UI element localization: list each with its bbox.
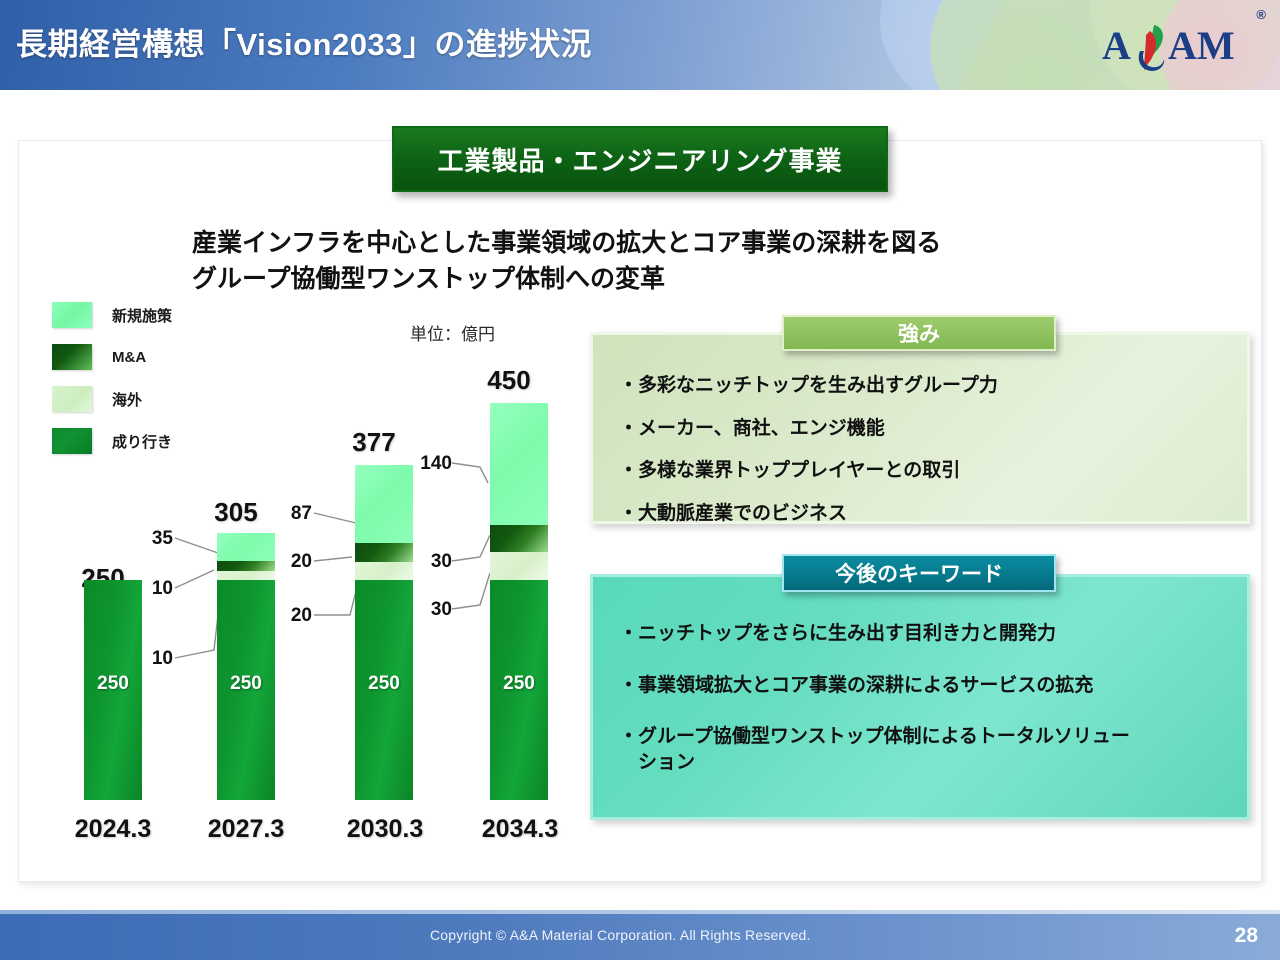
keywords-panel: ・ニッチトップをさらに生み出す目利き力と開発力 ・事業領域拡大とコア事業の深耕に…	[590, 574, 1250, 820]
strengths-list: ・多彩なニッチトップを生み出すグループ力 ・メーカー、商社、エンジ機能 ・多様な…	[593, 335, 1247, 562]
slide-header: 長期経営構想「Vision2033」の進捗状況 A AM ®	[0, 0, 1280, 90]
bar-callout-new-measures-2030: 87	[270, 503, 312, 525]
subtitle-line-1: 産業インフラを中心とした事業領域の拡大とコア事業の深耕を図る	[192, 226, 1092, 262]
list-item: ・事業領域拡大とコア事業の深耕によるサービスの拡充	[619, 673, 1221, 699]
bar-callout-new-measures-2034: 140	[402, 453, 452, 475]
list-item: ・大動脈産業でのビジネス	[619, 501, 1221, 527]
bar-callout-overseas-2027: 10	[131, 648, 173, 670]
bar-segment-new-measures-2034	[490, 403, 548, 525]
section-banner-label: 工業製品・エンジニアリング事業	[437, 141, 842, 178]
list-item: ・多様な業界トッププレイヤーとの取引	[619, 458, 1221, 484]
copyright-text: Copyright © A&A Material Corporation. Al…	[430, 927, 811, 943]
list-item: ・グループ協働型ワンストップ体制によるトータルソリュー	[619, 724, 1221, 750]
x-axis-label-2030: 2030.3	[320, 815, 450, 844]
bar-total-2034: 450	[449, 365, 569, 396]
bar-segment-overseas-2034	[490, 552, 548, 580]
logo-mark: A AM	[1100, 17, 1250, 75]
bar-value-organic-2034: 250	[490, 673, 548, 695]
bar-callout-ma-2034: 30	[402, 551, 452, 573]
section-banner: 工業製品・エンジニアリング事業	[392, 126, 888, 192]
company-logo: A AM ®	[1100, 17, 1250, 75]
page-number: 28	[1235, 924, 1258, 948]
bar-callout-new-measures-2027: 35	[131, 528, 173, 550]
stacked-bar-chart: 新規施策 M&A 海外 成り行き 250 250 2024.3 305	[18, 285, 598, 865]
bar-2034	[490, 403, 548, 800]
strengths-panel-tab: 強み	[782, 315, 1056, 351]
strengths-tab-label: 強み	[898, 318, 940, 348]
slide-footer: Copyright © A&A Material Corporation. Al…	[0, 914, 1280, 960]
list-item: ・ニッチトップをさらに生み出す目利き力と開発力	[619, 621, 1221, 647]
svg-text:A: A	[1102, 23, 1131, 68]
svg-text:AM: AM	[1168, 23, 1235, 68]
bar-segment-new-measures-2027	[217, 533, 275, 561]
x-axis-label-2024: 2024.3	[48, 815, 178, 844]
bar-segment-new-measures-2030	[355, 465, 413, 543]
bar-value-organic-2027: 250	[217, 673, 275, 695]
list-item: ・メーカー、商社、エンジ機能	[619, 416, 1221, 442]
x-axis-label-2027: 2027.3	[181, 815, 311, 844]
chart-unit-label: 単位：億円	[410, 320, 495, 345]
bar-callout-overseas-2034: 30	[402, 599, 452, 621]
bar-segment-ma-2027	[217, 561, 275, 571]
page-title: 長期経営構想「Vision2033」の進捗状況	[16, 19, 592, 64]
bar-2027	[217, 533, 275, 800]
bar-value-organic-2024: 250	[84, 673, 142, 695]
bar-2030	[355, 465, 413, 800]
keywords-list: ・ニッチトップをさらに生み出す目利き力と開発力 ・事業領域拡大とコア事業の深耕に…	[593, 577, 1247, 811]
bar-segment-ma-2034	[490, 525, 548, 552]
list-item: ション	[619, 750, 1221, 776]
bar-segment-overseas-2027	[217, 571, 275, 580]
bar-callout-ma-2030: 20	[270, 551, 312, 573]
bar-callout-overseas-2030: 20	[270, 605, 312, 627]
x-axis-label-2034: 2034.3	[455, 815, 585, 844]
keywords-panel-tab: 今後のキーワード	[782, 554, 1056, 592]
keywords-tab-label: 今後のキーワード	[835, 558, 1003, 588]
strengths-panel: ・多彩なニッチトップを生み出すグループ力 ・メーカー、商社、エンジ機能 ・多様な…	[590, 332, 1250, 524]
bar-value-organic-2030: 250	[355, 673, 413, 695]
registered-trademark-icon: ®	[1256, 7, 1266, 22]
bar-callout-ma-2027: 10	[131, 578, 173, 600]
list-item: ・多彩なニッチトップを生み出すグループ力	[619, 373, 1221, 399]
